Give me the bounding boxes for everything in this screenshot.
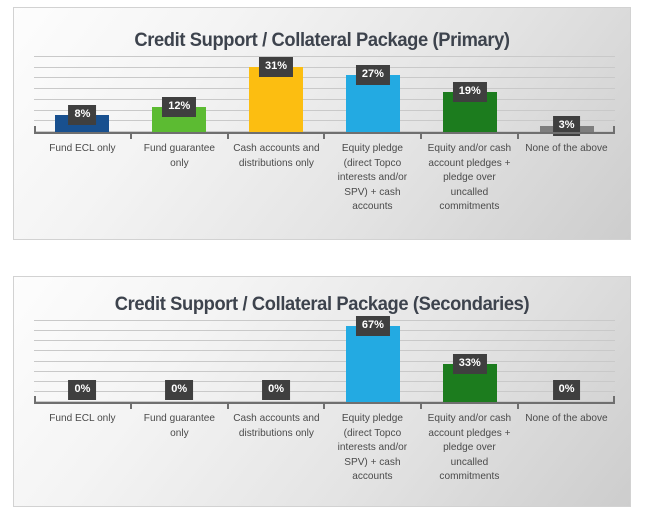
axis-tick	[34, 404, 131, 409]
bar-cell: 67%	[324, 320, 421, 402]
axis-cap-left	[34, 126, 36, 132]
axis-tick	[324, 134, 421, 139]
bar-cell: 0%	[131, 320, 228, 402]
axis-tick	[34, 134, 131, 139]
category-label: Fund ECL only	[36, 141, 129, 214]
bar-series-primary: 8%12%31%27%19%3%	[34, 56, 615, 132]
bar[interactable]: 31%	[249, 67, 303, 132]
bar-cell: 31%	[228, 56, 325, 132]
bar[interactable]: 67%	[346, 326, 400, 402]
axis-cap-right	[613, 126, 615, 132]
bar-cell: 12%	[131, 56, 228, 132]
category-labels-primary: Fund ECL onlyFund guarantee onlyCash acc…	[34, 141, 615, 214]
bar-cell: 0%	[34, 320, 131, 402]
category-label: Equity and/or cash account pledges + ple…	[423, 141, 516, 214]
axis-ticks-primary	[34, 134, 615, 139]
axis-cap-left	[34, 396, 36, 402]
axis-tick	[518, 134, 615, 139]
category-label: Cash accounts and distributions only	[230, 141, 323, 214]
bar-cell: 27%	[324, 56, 421, 132]
plot-area-primary: 8%12%31%27%19%3%	[34, 56, 615, 132]
category-labels-secondaries: Fund ECL onlyFund guarantee onlyCash acc…	[34, 411, 615, 484]
bar[interactable]: 27%	[346, 75, 400, 132]
category-label: Equity pledge (direct Topco interests an…	[326, 411, 419, 484]
axis-tick	[131, 134, 228, 139]
axis-cap-right	[613, 396, 615, 402]
category-label: Fund guarantee only	[133, 141, 226, 214]
bar-cell: 3%	[518, 56, 615, 132]
bar-data-label: 27%	[356, 65, 390, 85]
axis-ticks-secondaries	[34, 404, 615, 409]
bar-series-secondaries: 0%0%0%67%33%0%	[34, 320, 615, 402]
category-label: Fund ECL only	[36, 411, 129, 484]
chart-title-primary: Credit Support / Collateral Package (Pri…	[32, 29, 611, 52]
axis-tick	[228, 134, 325, 139]
bar-cell: 8%	[34, 56, 131, 132]
chart-panel-secondaries: Credit Support / Collateral Package (Sec…	[13, 276, 631, 507]
axis-tick	[324, 404, 421, 409]
category-label: None of the above	[520, 141, 613, 214]
bar-cell: 0%	[228, 320, 325, 402]
category-label: None of the above	[520, 411, 613, 484]
bar-data-label: 8%	[68, 105, 96, 125]
axis-end-caps-primary	[34, 126, 615, 132]
axis-tick	[228, 404, 325, 409]
bar-data-label: 33%	[453, 354, 487, 374]
bar-cell: 19%	[421, 56, 518, 132]
bar-cell: 0%	[518, 320, 615, 402]
axis-tick	[421, 134, 518, 139]
chart-panel-primary: Credit Support / Collateral Package (Pri…	[13, 7, 631, 240]
chart-title-secondaries: Credit Support / Collateral Package (Sec…	[32, 293, 611, 316]
bar-data-label: 67%	[356, 316, 390, 336]
axis-end-caps-secondaries	[34, 396, 615, 402]
plot-area-secondaries: 0%0%0%67%33%0%	[34, 320, 615, 402]
category-label: Cash accounts and distributions only	[230, 411, 323, 484]
bar-data-label: 12%	[162, 97, 196, 117]
axis-tick	[421, 404, 518, 409]
category-label: Equity pledge (direct Topco interests an…	[326, 141, 419, 214]
category-label: Equity and/or cash account pledges + ple…	[423, 411, 516, 484]
axis-tick	[518, 404, 615, 409]
slide-canvas: Credit Support / Collateral Package (Pri…	[0, 0, 647, 514]
axis-tick	[131, 404, 228, 409]
bar-data-label: 19%	[453, 82, 487, 102]
bar-data-label: 31%	[259, 57, 293, 77]
bar-cell: 33%	[421, 320, 518, 402]
category-label: Fund guarantee only	[133, 411, 226, 484]
